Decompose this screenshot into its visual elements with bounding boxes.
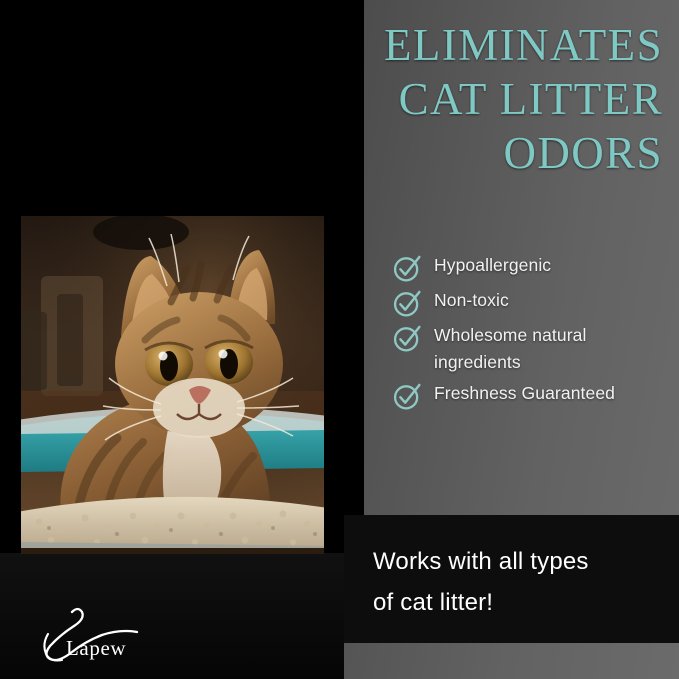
product-ad-banner: ELIMINATES CAT LITTER ODORS Hypoallergen… [0,0,679,679]
headline: ELIMINATES CAT LITTER ODORS [243,18,663,180]
list-item: Wholesome natural ingredients [392,322,672,376]
product-photo [21,216,324,554]
headline-line-3: ODORS [243,126,663,180]
callout-line-1: Works with all types [373,541,663,582]
check-circle-icon [392,288,422,318]
list-item-label: Non-toxic [434,287,509,314]
list-item: Non-toxic [392,287,672,318]
feature-list: Hypoallergenic Non-toxic Wholesome natur… [392,252,672,415]
list-item-label: Hypoallergenic [434,252,551,279]
brand-name: Lapew [66,636,126,661]
callout-text: Works with all types of cat litter! [373,541,663,623]
headline-line-2: CAT LITTER [243,72,663,126]
check-circle-icon [392,381,422,411]
check-circle-icon [392,323,422,353]
brand-logo: Lapew [22,604,152,666]
callout-box: Works with all types of cat litter! [344,515,679,643]
check-circle-icon [392,253,422,283]
headline-line-1: ELIMINATES [243,18,663,72]
list-item: Hypoallergenic [392,252,672,283]
list-item-label: Wholesome natural ingredients [434,322,672,376]
list-item-label: Freshness Guaranteed [434,380,615,407]
list-item: Freshness Guaranteed [392,380,672,411]
callout-line-2: of cat litter! [373,582,663,623]
